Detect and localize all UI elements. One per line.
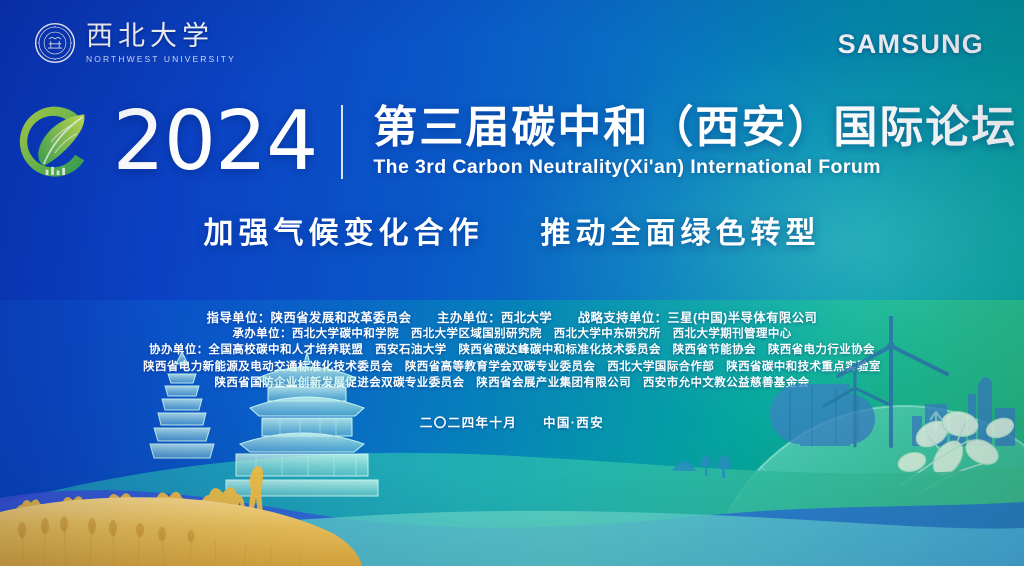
organizer-line: 承办单位：西北大学碳中和学院 西北大学区域国别研究院 西北大学中东研究所 西北大… xyxy=(0,326,1024,342)
event-poster: 西北大学 NORTHWEST UNIVERSITY SAMSUNG xyxy=(0,0,1024,566)
university-name-en: NORTHWEST UNIVERSITY xyxy=(86,55,236,64)
university-name-block: 西北大学 NORTHWEST UNIVERSITY xyxy=(86,23,236,64)
event-location: 中国·西安 xyxy=(543,416,604,430)
sponsor-logo-samsung: SAMSUNG xyxy=(838,29,984,60)
organizer-line: 指导单位：陕西省发展和改革委员会 主办单位：西北大学 战略支持单位：三星(中国)… xyxy=(0,310,1024,326)
carbon-neutral-leaf-icon xyxy=(7,96,99,188)
title-block: 2024 第三届碳中和（西安）国际论坛 The 3rd Carbon Neutr… xyxy=(0,96,1024,188)
university-logo: 西北大学 NORTHWEST UNIVERSITY xyxy=(34,22,236,64)
university-name-cn: 西北大学 xyxy=(86,23,236,50)
organizer-line: 陕西省国防企业创新发展促进会双碳专业委员会 陕西省会展产业集团有限公司 西安市允… xyxy=(0,375,1024,391)
event-slogan: 加强气候变化合作 推动全面绿色转型 xyxy=(0,208,1024,252)
title-divider xyxy=(341,105,343,179)
event-title-cn: 第三届碳中和（西安）国际论坛 xyxy=(373,105,1017,151)
organizer-list: 指导单位：陕西省发展和改革委员会 主办单位：西北大学 战略支持单位：三星(中国)… xyxy=(0,310,1024,391)
poster-header: 西北大学 NORTHWEST UNIVERSITY SAMSUNG xyxy=(0,0,1024,92)
slogan-part-1: 加强气候变化合作 xyxy=(204,216,484,251)
event-year: 2024 xyxy=(113,101,318,183)
organizer-line: 协办单位：全国高校碳中和人才培养联盟 西安石油大学 陕西省碳达峰碳中和标准化技术… xyxy=(0,342,1024,358)
slogan-part-2: 推动全面绿色转型 xyxy=(540,216,820,251)
organizer-line: 陕西省电力新能源及电动交通标准化技术委员会 陕西省高等教育学会双碳专业委员会 西… xyxy=(0,359,1024,375)
event-title-en: The 3rd Carbon Neutrality(Xi'an) Interna… xyxy=(373,156,1017,179)
event-date: 二〇二四年十月 xyxy=(420,416,517,430)
university-seal-icon xyxy=(34,22,76,64)
title-texts: 第三届碳中和（西安）国际论坛 The 3rd Carbon Neutrality… xyxy=(373,105,1017,179)
event-date-location: 二〇二四年十月 中国·西安 xyxy=(0,412,1024,431)
